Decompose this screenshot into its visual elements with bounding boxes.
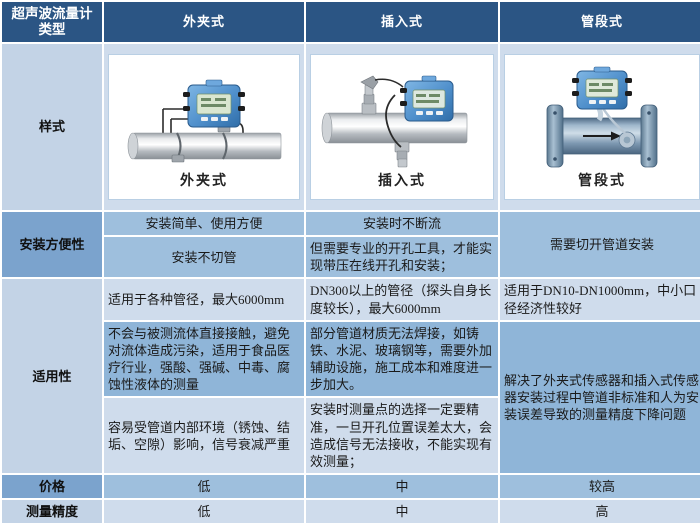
row-label-style: 样式 <box>2 44 102 210</box>
image-caption-insertion: 插入式 <box>378 173 426 191</box>
image-caption-clamp-on: 外夹式 <box>180 173 228 191</box>
clamp-on-meter-diagram <box>109 63 299 171</box>
row-label-price: 价格 <box>2 475 102 498</box>
row-style: 样式 <box>2 44 700 210</box>
comparison-table-page: 超声波流量计 类型 外夹式 插入式 管段式 样式 <box>0 0 700 489</box>
header-column-inline: 管段式 <box>500 2 700 42</box>
table-header-row: 超声波流量计 类型 外夹式 插入式 管段式 <box>2 2 700 42</box>
cell-accuracy-inline: 高 <box>500 500 700 523</box>
header-corner-cell: 超声波流量计 类型 <box>2 2 102 42</box>
inline-spool-meter-svg <box>511 63 693 171</box>
row-install-convenience-a: 安装方便性 安装简单、使用方便 安装时不断流 需要切开管道安装 <box>2 212 700 235</box>
row-accuracy: 测量精度 低 中 高 <box>2 500 700 523</box>
cell-applicability-clamp-on-2: 不会与被测流体直接接触，避免对流体造成污染，适用于食品医疗行业，强酸、强碱、中毒… <box>104 322 304 397</box>
header-corner-line2: 类型 <box>6 22 98 38</box>
cell-applicability-clamp-on-1: 适用于各种管径，最大6000mm <box>104 279 304 319</box>
cell-accuracy-insertion: 中 <box>306 500 498 523</box>
image-caption-inline: 管段式 <box>578 173 626 191</box>
header-corner-line1: 超声波流量计 <box>6 6 98 22</box>
image-cell-inline: 管段式 <box>500 44 700 210</box>
cell-price-clamp-on: 低 <box>104 475 304 498</box>
header-column-clamp-on: 外夹式 <box>104 2 304 42</box>
cell-install-clamp-on-2: 安装不切管 <box>104 237 304 277</box>
image-cell-clamp-on: 外夹式 <box>104 44 304 210</box>
cell-applicability-insertion-1: DN300以上的管径（探头自身长度较长），最大6000mm <box>306 279 498 319</box>
insertion-meter-diagram <box>311 63 493 171</box>
row-label-install-convenience: 安装方便性 <box>2 212 102 277</box>
image-frame-insertion: 插入式 <box>310 54 494 200</box>
cell-applicability-insertion-2: 部分管道材质无法焊接，如铸铁、水泥、玻璃钢等，需要外加辅助设施，施工成本和难度进… <box>306 322 498 397</box>
header-column-insertion: 插入式 <box>306 2 498 42</box>
clamp-on-meter-svg <box>115 63 293 171</box>
image-frame-clamp-on: 外夹式 <box>108 54 300 200</box>
row-applicability-b: 不会与被测流体直接接触，避免对流体造成污染，适用于食品医疗行业，强酸、强碱、中毒… <box>2 322 700 397</box>
inline-spool-meter-diagram <box>505 63 699 171</box>
image-cell-insertion: 插入式 <box>306 44 498 210</box>
cell-price-insertion: 中 <box>306 475 498 498</box>
cell-applicability-insertion-3: 安装时测量点的选择一定要精准，一旦开孔位置误差太大，会造成信号无法接收，不能实现… <box>306 398 498 473</box>
row-price: 价格 低 中 较高 <box>2 475 700 498</box>
image-frame-inline: 管段式 <box>504 54 700 200</box>
cell-applicability-inline-1: 适用于DN10-DN1000mm，中小口径经济性较好 <box>500 279 700 319</box>
ultrasonic-flowmeter-comparison-table: 超声波流量计 类型 外夹式 插入式 管段式 样式 <box>0 0 700 525</box>
row-applicability-a: 适用性 适用于各种管径，最大6000mm DN300以上的管径（探头自身长度较长… <box>2 279 700 319</box>
cell-applicability-inline-2: 解决了外夹式传感器和插入式传感器安装过程中管道非标准和人为安装误差导致的测量精度… <box>500 322 700 473</box>
row-label-accuracy: 测量精度 <box>2 500 102 523</box>
cell-install-clamp-on-1: 安装简单、使用方便 <box>104 212 304 235</box>
cell-install-insertion-1: 安装时不断流 <box>306 212 498 235</box>
cell-applicability-clamp-on-3: 容易受管道内部环境（锈蚀、结垢、空隙）影响，信号衰减严重 <box>104 398 304 473</box>
cell-accuracy-clamp-on: 低 <box>104 500 304 523</box>
cell-install-insertion-2: 但需要专业的开孔工具，才能实现带压在线开孔和安装； <box>306 237 498 277</box>
row-label-applicability: 适用性 <box>2 279 102 473</box>
cell-install-inline: 需要切开管道安装 <box>500 212 700 277</box>
cell-price-inline: 较高 <box>500 475 700 498</box>
insertion-meter-svg <box>317 63 487 171</box>
